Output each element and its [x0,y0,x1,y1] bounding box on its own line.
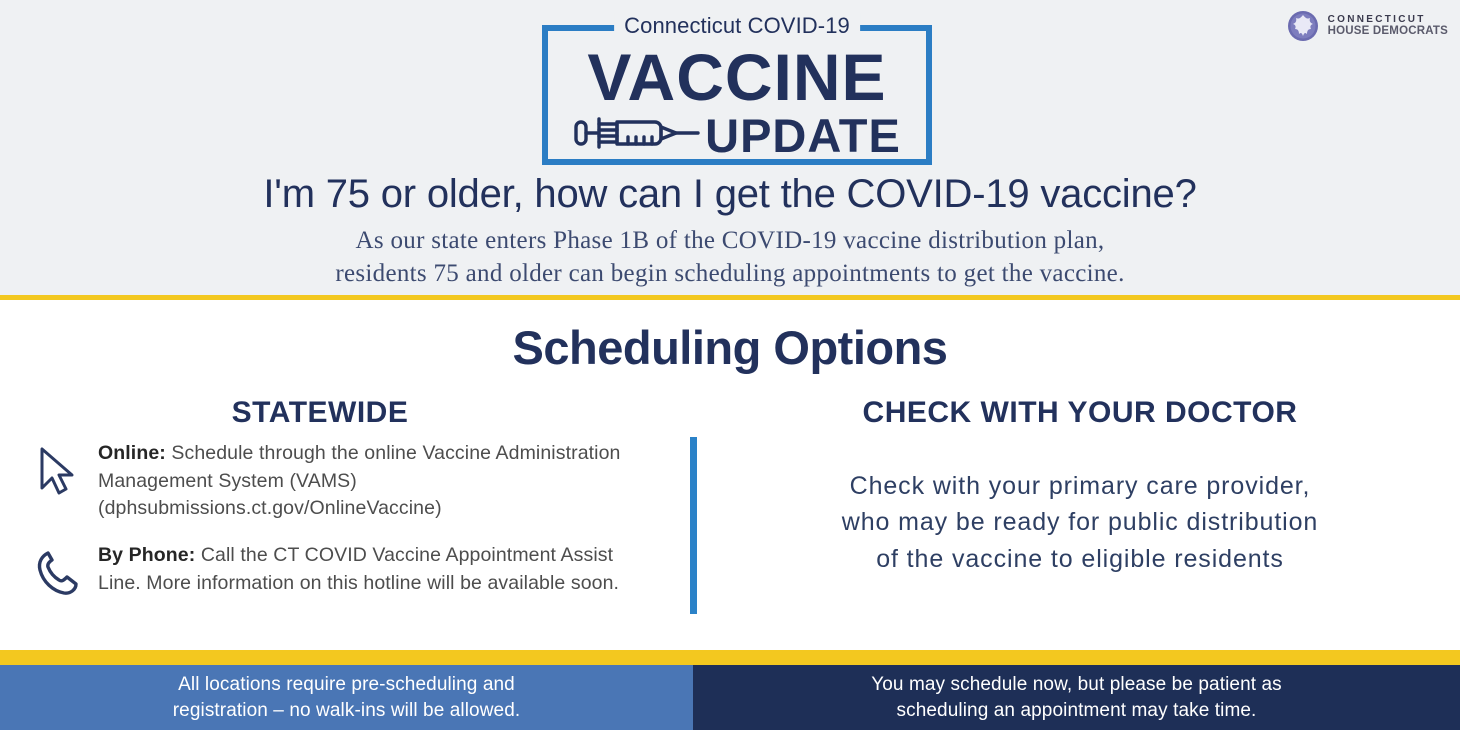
list-item-label: By Phone: [98,544,195,566]
list-item-body: Schedule through the online Vaccine Admi… [98,442,620,519]
page-subtitle: As our state enters Phase 1B of the COVI… [0,224,1460,290]
list-item: Online: Schedule through the online Vacc… [34,440,634,523]
subtitle-line-2: residents 75 and older can begin schedul… [0,257,1460,290]
doctor-body-line-1: Check with your primary care provider, [720,468,1440,504]
org-logo-line2: HOUSE DEMOCRATS [1328,25,1448,38]
doctor-column-body: Check with your primary care provider, w… [720,468,1440,577]
footer-left-line-1: All locations require pre-scheduling and [178,674,515,695]
footer-banner-right: You may schedule now, but please be pati… [693,665,1460,730]
syringe-icon [573,112,701,159]
column-heading-doctor: CHECK WITH YOUR DOCTOR [700,396,1460,430]
org-logo: CONNECTICUT HOUSE DEMOCRATS [1287,10,1448,42]
list-item-text: Online: Schedule through the online Vacc… [98,440,634,523]
subtitle-line-1: As our state enters Phase 1B of the COVI… [0,224,1460,257]
doctor-body-line-2: who may be ready for public distribution [720,504,1440,540]
footer-banner-left: All locations require pre-scheduling and… [0,665,693,730]
org-logo-line1: CONNECTICUT [1328,14,1448,25]
lockup-kicker: Connecticut COVID-19 [614,13,860,39]
footer-left-line-2: registration – no walk-ins will be allow… [173,700,521,721]
footer-right-line-1: You may schedule now, but please be pati… [871,674,1282,695]
lockup-word-vaccine: VACCINE [542,44,932,110]
list-item: By Phone: Call the CT COVID Vaccine Appo… [34,542,634,603]
cursor-arrow-icon [34,440,98,503]
vaccine-update-lockup: Connecticut COVID-19 VACCINE [542,25,932,165]
lockup-word-update: UPDATE [705,112,901,159]
list-item-label: Online: [98,442,166,464]
phone-icon [34,542,98,603]
list-item-text: By Phone: Call the CT COVID Vaccine Appo… [98,542,634,597]
doctor-body-line-3: of the vaccine to eligible residents [720,541,1440,577]
column-heading-statewide: STATEWIDE [0,396,640,430]
page-headline: I'm 75 or older, how can I get the COVID… [0,172,1460,217]
state-seal-icon [1287,10,1319,42]
footer-right-line-2: scheduling an appointment may take time. [897,700,1257,721]
footer-banner: All locations require pre-scheduling and… [0,665,1460,730]
column-divider [690,437,697,614]
gold-divider-bottom [0,650,1460,665]
section-title: Scheduling Options [0,320,1460,375]
